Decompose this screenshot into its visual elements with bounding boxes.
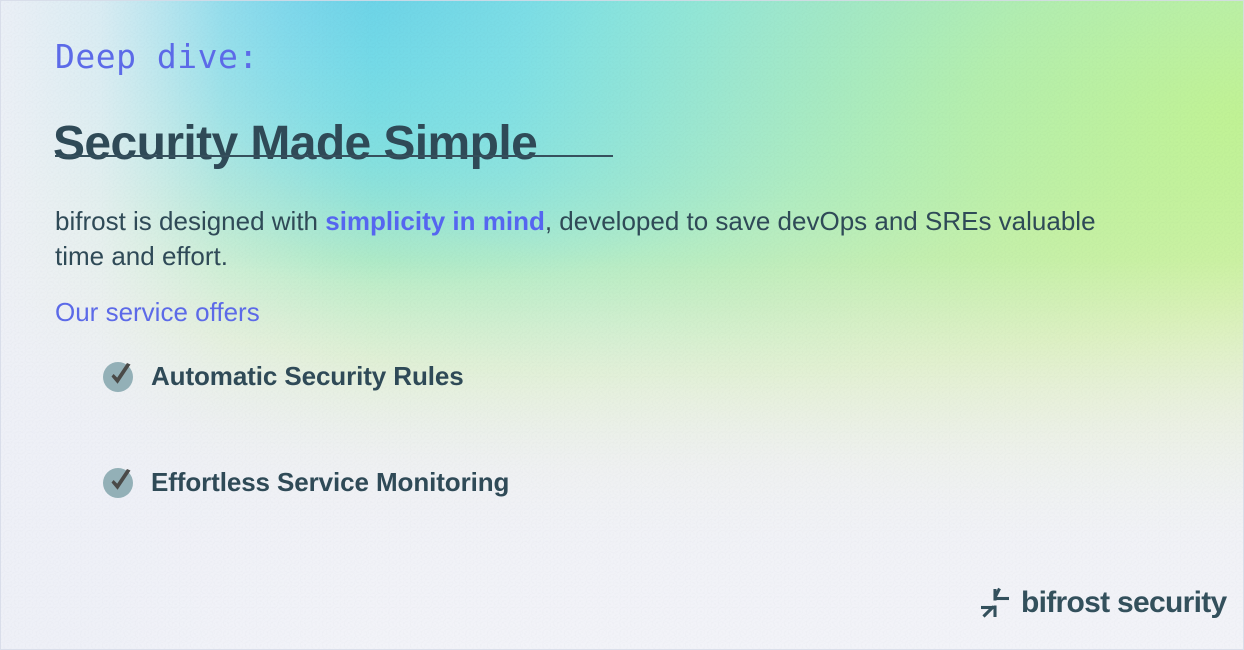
brand-logo-text: bifrost security xyxy=(1021,586,1227,620)
intro-text-highlight: simplicity in mind xyxy=(325,206,545,236)
presentation-slide: Deep dive: Security Made Simple bifrost … xyxy=(0,0,1244,650)
eyebrow-label: Deep dive: xyxy=(55,37,259,76)
offer-list: Automatic Security Rules Effortless Serv… xyxy=(100,354,509,504)
list-item: Effortless Service Monitoring xyxy=(100,460,509,504)
bifrost-asterisk-icon xyxy=(975,583,1015,623)
list-item-label: Effortless Service Monitoring xyxy=(151,467,509,498)
check-mark-icon xyxy=(100,462,140,502)
brand-logo: bifrost security xyxy=(975,583,1227,623)
page-title: Security Made Simple xyxy=(53,116,537,171)
list-item-label: Automatic Security Rules xyxy=(151,361,464,392)
section-label-our-service-offers: Our service offers xyxy=(55,297,260,328)
intro-paragraph: bifrost is designed with simplicity in m… xyxy=(55,204,1140,274)
list-item: Automatic Security Rules xyxy=(100,354,509,398)
title-underline-rule xyxy=(55,155,613,157)
intro-text-before: bifrost is designed with xyxy=(55,206,325,236)
check-mark-icon xyxy=(100,356,140,396)
